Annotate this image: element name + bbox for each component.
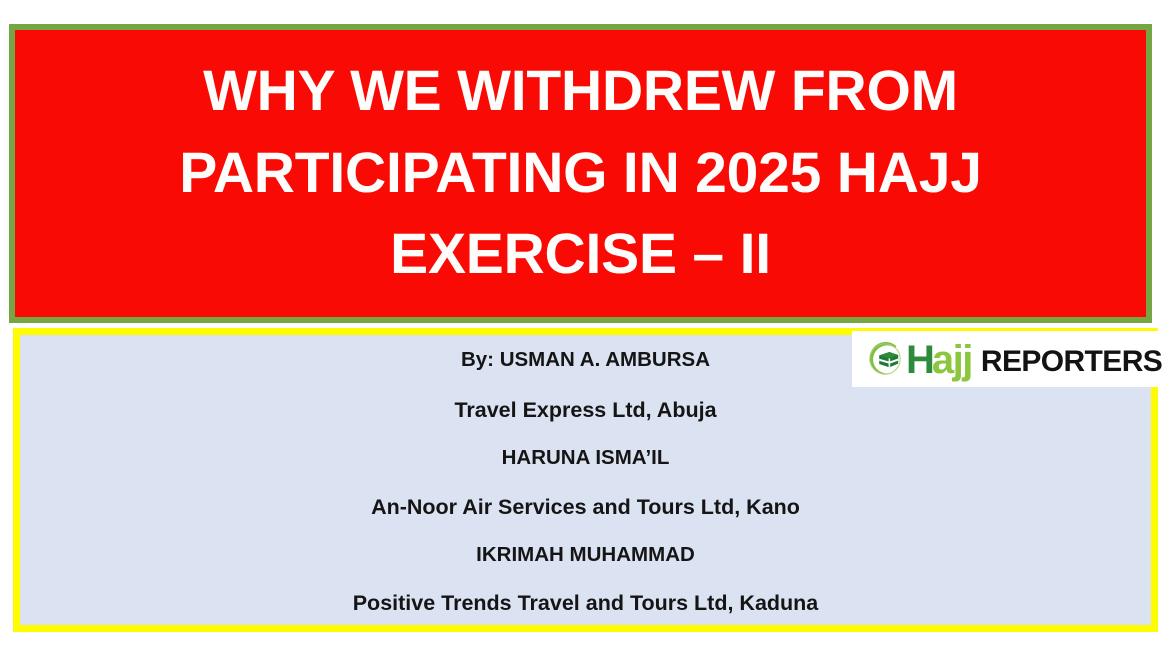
credit-author-name-3: IKRIMAH MUHAMMAD [476, 545, 695, 566]
slide-title-line-3: EXERCISE – II [390, 214, 771, 296]
logo-letters-ajj: ajj [932, 340, 972, 380]
credit-company-2: An-Noor Air Services and Tours Ltd, Kano [371, 497, 800, 519]
credit-company-3: Positive Trends Travel and Tours Ltd, Ka… [353, 593, 819, 615]
logo-wordmark: H ajj REPORTERS [906, 339, 1162, 379]
logo-word-reporters: REPORTERS [981, 347, 1162, 377]
credit-author-name-1: By: USMAN A. AMBURSA [461, 350, 710, 371]
credit-company-1: Travel Express Ltd, Abuja [454, 400, 716, 422]
slide-title-line-1: WHY WE WITHDREW FROM [203, 51, 958, 133]
slide-title-box: WHY WE WITHDREW FROM PARTICIPATING IN 20… [9, 24, 1152, 323]
hajj-kaaba-crescent-icon [865, 339, 905, 379]
presentation-slide: WHY WE WITHDREW FROM PARTICIPATING IN 20… [0, 0, 1170, 658]
slide-title-line-2: PARTICIPATING IN 2025 HAJJ [179, 133, 982, 215]
logo-letter-h: H [906, 340, 933, 380]
credit-author-name-2: HARUNA ISMA’IL [502, 448, 670, 469]
hajj-reporters-logo: H ajj REPORTERS [852, 331, 1170, 387]
